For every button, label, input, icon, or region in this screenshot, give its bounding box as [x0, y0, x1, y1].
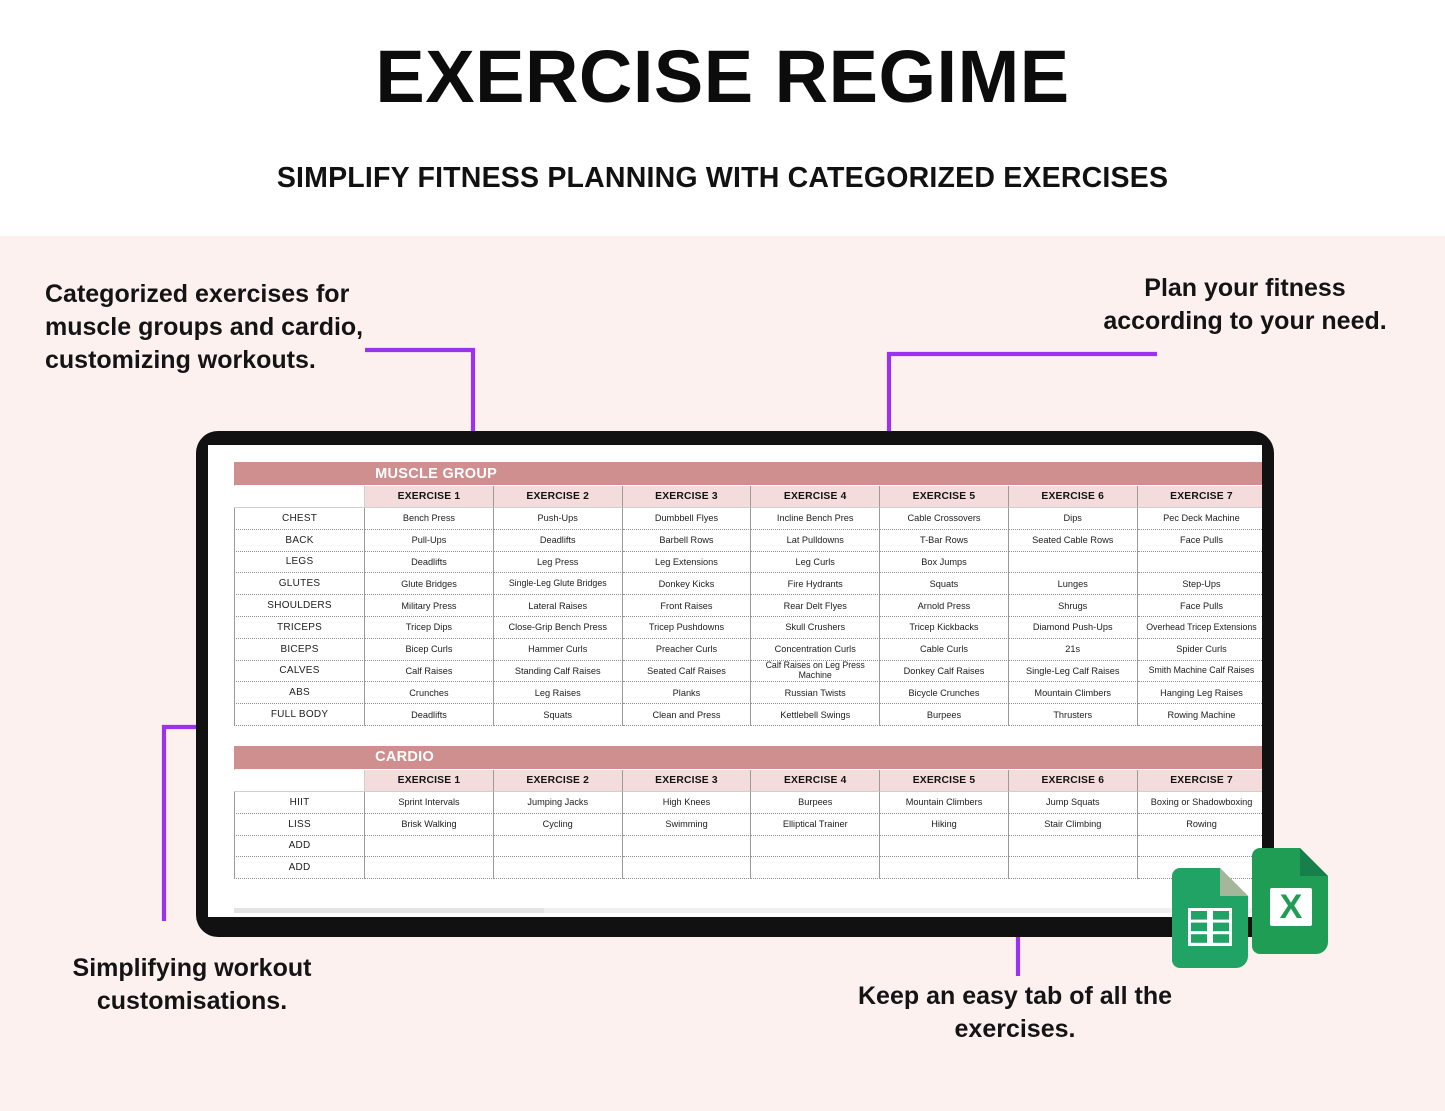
cell[interactable]: Donkey Calf Raises [880, 661, 1009, 683]
table-row: BACKPull-UpsDeadliftsBarbell RowsLat Pul… [234, 530, 1262, 552]
cell[interactable]: Front Raises [623, 595, 752, 617]
cell[interactable]: Lateral Raises [494, 595, 623, 617]
cardio-banner-row: CARDIO [234, 746, 1262, 770]
muscle-group-column-header-6[interactable]: EXERCISE 6 [1009, 486, 1138, 508]
cell[interactable]: Brisk Walking [365, 814, 494, 836]
cell[interactable]: Leg Curls [751, 552, 880, 574]
muscle-group-row-label-7[interactable]: BICEPS [234, 639, 365, 661]
cell[interactable]: T-Bar Rows [880, 530, 1009, 552]
table-row: LISSBrisk WalkingCyclingSwimmingElliptic… [234, 814, 1262, 836]
scrollbar-thumb[interactable] [234, 908, 544, 913]
laptop-screen: MUSCLE GROUPEXERCISE 1EXERCISE 2EXERCISE… [208, 445, 1262, 917]
cardio-row-label-2[interactable]: LISS [234, 814, 365, 836]
cell[interactable]: Hiking [880, 814, 1009, 836]
page-header: EXERCISE REGIME SIMPLIFY FITNESS PLANNIN… [0, 0, 1445, 236]
cell[interactable]: Close-Grip Bench Press [494, 617, 623, 639]
cardio-column-header-4[interactable]: EXERCISE 4 [751, 770, 880, 792]
cell[interactable] [751, 857, 880, 879]
cell[interactable]: Bicep Curls [365, 639, 494, 661]
muscle-group-row-label-2[interactable]: BACK [234, 530, 365, 552]
cell[interactable]: Rear Delt Flyes [751, 595, 880, 617]
cell[interactable] [365, 857, 494, 879]
cardio-row-label-1[interactable]: HIIT [234, 792, 365, 814]
cell[interactable]: Elliptical Trainer [751, 814, 880, 836]
cell[interactable] [623, 857, 752, 879]
cell[interactable]: Skull Crushers [751, 617, 880, 639]
cell[interactable] [1138, 552, 1262, 574]
cell[interactable]: Planks [623, 682, 752, 704]
callout-top-right: Plan your fitness according to your need… [1095, 272, 1395, 338]
callout-bottom-right: Keep an easy tab of all the exercises. [795, 980, 1235, 1046]
table-row: ADD [234, 857, 1262, 879]
cell[interactable]: Pec Deck Machine [1138, 508, 1262, 530]
cell[interactable]: Burpees [880, 704, 1009, 726]
cell[interactable]: Face Pulls [1138, 530, 1262, 552]
muscle-group-row-label-5[interactable]: SHOULDERS [234, 595, 365, 617]
cell[interactable]: Swimming [623, 814, 752, 836]
cell[interactable] [1009, 552, 1138, 574]
cell[interactable]: Rowing Machine [1138, 704, 1262, 726]
cell[interactable]: High Knees [623, 792, 752, 814]
horizontal-scrollbar[interactable] [234, 908, 1262, 913]
muscle-group-column-header-1[interactable]: EXERCISE 1 [365, 486, 494, 508]
cell[interactable]: Thrusters [1009, 704, 1138, 726]
cell[interactable]: Deadlifts [365, 704, 494, 726]
cell[interactable]: Lat Pulldowns [751, 530, 880, 552]
cell[interactable]: Single-Leg Calf Raises [1009, 661, 1138, 683]
muscle-group-table[interactable]: MUSCLE GROUPEXERCISE 1EXERCISE 2EXERCISE… [234, 462, 1262, 726]
cell[interactable]: Barbell Rows [623, 530, 752, 552]
cell[interactable] [1009, 836, 1138, 858]
cell[interactable]: Jumping Jacks [494, 792, 623, 814]
cell[interactable]: Single-Leg Glute Bridges [494, 573, 623, 595]
microsoft-excel-logo: X [1252, 848, 1328, 954]
cardio-column-header-2[interactable]: EXERCISE 2 [494, 770, 623, 792]
cell[interactable]: Leg Press [494, 552, 623, 574]
cell[interactable]: Squats [880, 573, 1009, 595]
cell[interactable]: Cycling [494, 814, 623, 836]
cell[interactable]: Leg Raises [494, 682, 623, 704]
cell[interactable]: Tricep Kickbacks [880, 617, 1009, 639]
muscle-group-column-header-2[interactable]: EXERCISE 2 [494, 486, 623, 508]
cell[interactable]: Fire Hydrants [751, 573, 880, 595]
cell[interactable]: Face Pulls [1138, 595, 1262, 617]
cell[interactable]: Clean and Press [623, 704, 752, 726]
cell[interactable]: Hammer Curls [494, 639, 623, 661]
cell[interactable]: Crunches [365, 682, 494, 704]
page-title: EXERCISE REGIME [375, 40, 1069, 114]
table-row: BICEPSBicep CurlsHammer CurlsPreacher Cu… [234, 639, 1262, 661]
table-row: LEGSDeadliftsLeg PressLeg ExtensionsLeg … [234, 552, 1262, 574]
muscle-group-row-label-3[interactable]: LEGS [234, 552, 365, 574]
cell[interactable]: Deadlifts [365, 552, 494, 574]
table-gap [234, 726, 1262, 746]
cell[interactable]: Pull-Ups [365, 530, 494, 552]
cardio-header-row: EXERCISE 1EXERCISE 2EXERCISE 3EXERCISE 4… [234, 770, 1262, 792]
cell[interactable]: Burpees [751, 792, 880, 814]
cell[interactable]: Boxing or Shadowboxing [1138, 792, 1262, 814]
cardio-banner-corner [234, 746, 365, 770]
cell[interactable]: Spider Curls [1138, 639, 1262, 661]
table-row: TRICEPSTricep DipsClose-Grip Bench Press… [234, 617, 1262, 639]
table-row: CALVESCalf RaisesStanding Calf RaisesSea… [234, 661, 1262, 683]
table-row: GLUTESGlute BridgesSingle-Leg Glute Brid… [234, 573, 1262, 595]
cell[interactable]: Hanging Leg Raises [1138, 682, 1262, 704]
muscle-group-row-label-4[interactable]: GLUTES [234, 573, 365, 595]
cell[interactable]: Seated Cable Rows [1009, 530, 1138, 552]
muscle-group-column-header-3[interactable]: EXERCISE 3 [623, 486, 752, 508]
cell[interactable]: Cable Curls [880, 639, 1009, 661]
cell[interactable]: Tricep Pushdowns [623, 617, 752, 639]
muscle-group-header-row: EXERCISE 1EXERCISE 2EXERCISE 3EXERCISE 4… [234, 486, 1262, 508]
table-row: HIITSprint IntervalsJumping JacksHigh Kn… [234, 792, 1262, 814]
cell[interactable]: Jump Squats [1009, 792, 1138, 814]
muscle-group-row-label-10[interactable]: FULL BODY [234, 704, 365, 726]
cell[interactable]: Overhead Tricep Extensions [1138, 617, 1262, 639]
cell[interactable]: Rowing [1138, 814, 1262, 836]
cell[interactable]: Sprint Intervals [365, 792, 494, 814]
cell[interactable]: Dumbbell Flyes [623, 508, 752, 530]
cell[interactable]: Shrugs [1009, 595, 1138, 617]
cell[interactable] [880, 857, 1009, 879]
google-sheets-logo [1172, 868, 1248, 968]
cell[interactable]: Glute Bridges [365, 573, 494, 595]
cell[interactable]: Arnold Press [880, 595, 1009, 617]
cardio-banner-label: CARDIO [365, 746, 1262, 770]
cell[interactable]: Cable Crossovers [880, 508, 1009, 530]
cell[interactable]: Donkey Kicks [623, 573, 752, 595]
muscle-group-banner-label: MUSCLE GROUP [365, 462, 1262, 486]
content-stage: Categorized exercises for muscle groups … [0, 236, 1445, 1111]
cell[interactable]: Military Press [365, 595, 494, 617]
cardio-row-label-3[interactable]: ADD [234, 836, 365, 858]
cardio-table[interactable]: CARDIOEXERCISE 1EXERCISE 2EXERCISE 3EXER… [234, 746, 1262, 879]
file-format-logos: X [1172, 848, 1332, 978]
cell[interactable]: Bench Press [365, 508, 494, 530]
muscle-group-row-label-6[interactable]: TRICEPS [234, 617, 365, 639]
muscle-group-column-header-5[interactable]: EXERCISE 5 [880, 486, 1009, 508]
svg-text:X: X [1280, 888, 1303, 926]
cell[interactable] [751, 836, 880, 858]
table-row: SHOULDERSMilitary PressLateral RaisesFro… [234, 595, 1262, 617]
cell[interactable]: Smith Machine Calf Raises [1138, 661, 1262, 683]
muscle-group-banner-corner [234, 462, 365, 486]
cardio-row-label-4[interactable]: ADD [234, 857, 365, 879]
cell[interactable]: Kettlebell Swings [751, 704, 880, 726]
cell[interactable] [880, 836, 1009, 858]
cell[interactable]: Push-Ups [494, 508, 623, 530]
cell[interactable] [623, 836, 752, 858]
muscle-group-column-header-4[interactable]: EXERCISE 4 [751, 486, 880, 508]
callout-top-left: Categorized exercises for muscle groups … [45, 278, 365, 377]
cell[interactable]: Mountain Climbers [1009, 682, 1138, 704]
muscle-group-row-label-9[interactable]: ABS [234, 682, 365, 704]
muscle-group-banner-row: MUSCLE GROUP [234, 462, 1262, 486]
cell[interactable]: Concentration Curls [751, 639, 880, 661]
muscle-group-row-label-8[interactable]: CALVES [234, 661, 365, 683]
cardio-column-header-3[interactable]: EXERCISE 3 [623, 770, 752, 792]
cell[interactable]: 21s [1009, 639, 1138, 661]
page-subtitle: SIMPLIFY FITNESS PLANNING WITH CATEGORIZ… [277, 162, 1168, 195]
cell[interactable]: Dips [1009, 508, 1138, 530]
cell[interactable]: Step-Ups [1138, 573, 1262, 595]
callout-bottom-left: Simplifying workout customisations. [22, 952, 362, 1018]
cell[interactable]: Calf Raises on Leg Press Machine [751, 661, 880, 683]
cell[interactable]: Mountain Climbers [880, 792, 1009, 814]
cardio-header-corner [234, 770, 365, 792]
cell[interactable]: Standing Calf Raises [494, 661, 623, 683]
cell[interactable] [494, 836, 623, 858]
cell[interactable]: Tricep Dips [365, 617, 494, 639]
cell[interactable]: Squats [494, 704, 623, 726]
cardio-column-header-7[interactable]: EXERCISE 7 [1138, 770, 1262, 792]
cell[interactable]: Bicycle Crunches [880, 682, 1009, 704]
table-row: CHESTBench PressPush-UpsDumbbell FlyesIn… [234, 508, 1262, 530]
table-row: ADD [234, 836, 1262, 858]
cell[interactable] [1009, 857, 1138, 879]
cardio-column-header-1[interactable]: EXERCISE 1 [365, 770, 494, 792]
laptop-frame: MUSCLE GROUPEXERCISE 1EXERCISE 2EXERCISE… [196, 431, 1274, 937]
muscle-group-row-label-1[interactable]: CHEST [234, 508, 365, 530]
cell[interactable] [494, 857, 623, 879]
cell[interactable]: Stair Climbing [1009, 814, 1138, 836]
spreadsheet-viewport[interactable]: MUSCLE GROUPEXERCISE 1EXERCISE 2EXERCISE… [208, 445, 1262, 917]
cell[interactable]: Calf Raises [365, 661, 494, 683]
cell[interactable]: Diamond Push-Ups [1009, 617, 1138, 639]
table-row: FULL BODYDeadliftsSquatsClean and PressK… [234, 704, 1262, 726]
cell[interactable]: Seated Calf Raises [623, 661, 752, 683]
cardio-column-header-5[interactable]: EXERCISE 5 [880, 770, 1009, 792]
table-row: ABSCrunchesLeg RaisesPlanksRussian Twist… [234, 682, 1262, 704]
cell[interactable]: Preacher Curls [623, 639, 752, 661]
muscle-group-column-header-7[interactable]: EXERCISE 7 [1138, 486, 1262, 508]
cell[interactable] [365, 836, 494, 858]
cell[interactable]: Box Jumps [880, 552, 1009, 574]
cell[interactable]: Leg Extensions [623, 552, 752, 574]
cell[interactable]: Deadlifts [494, 530, 623, 552]
muscle-group-header-corner [234, 486, 365, 508]
cell[interactable]: Lunges [1009, 573, 1138, 595]
cell[interactable]: Russian Twists [751, 682, 880, 704]
cardio-column-header-6[interactable]: EXERCISE 6 [1009, 770, 1138, 792]
cell[interactable]: Incline Bench Pres [751, 508, 880, 530]
